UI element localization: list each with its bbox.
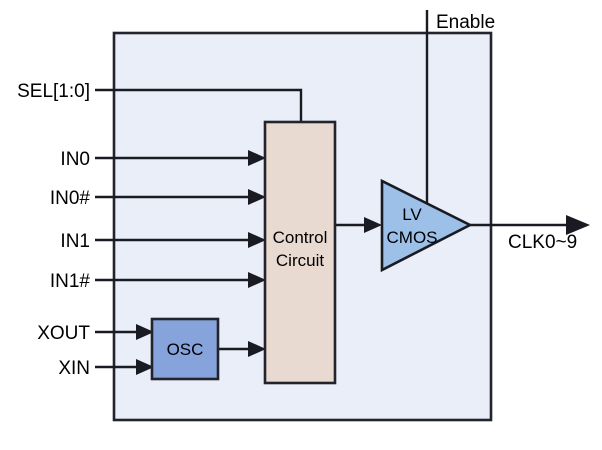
block-diagram: SEL[1:0] IN0 IN0# IN1 IN1# XOUT XIN Enab… (0, 0, 602, 450)
diagram-canvas: SEL[1:0] IN0 IN0# IN1 IN1# XOUT XIN Enab… (0, 0, 602, 450)
label-control-circuit-line1: Control (273, 228, 328, 247)
label-in1n: IN1# (50, 271, 91, 292)
label-sel: SEL[1:0] (17, 81, 90, 102)
label-in1: IN1 (60, 231, 90, 252)
label-control-circuit-line2: Circuit (276, 251, 324, 270)
label-lv-cmos-line2: CMOS (387, 228, 438, 247)
label-in0n: IN0# (50, 188, 91, 209)
label-clk-out: CLK0~9 (508, 232, 577, 253)
label-lv-cmos-line1: LV (402, 205, 422, 224)
label-in0: IN0 (60, 149, 90, 170)
label-xout: XOUT (37, 323, 90, 344)
label-xin: XIN (58, 358, 90, 379)
label-osc: OSC (167, 340, 204, 359)
label-enable: Enable (436, 12, 495, 33)
